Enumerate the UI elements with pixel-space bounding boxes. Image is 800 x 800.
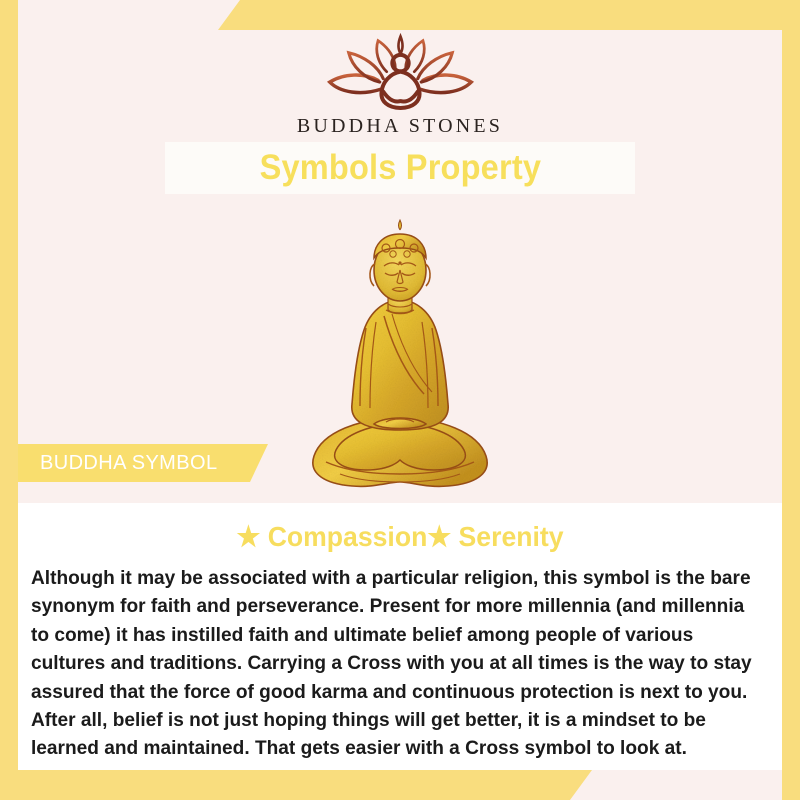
brand-name: BUDDHA STONES xyxy=(297,115,503,138)
attributes-subheading: ★ Compassion★ Serenity xyxy=(37,520,763,553)
description-panel: ★ Compassion★ Serenity Although it may b… xyxy=(18,503,782,770)
frame-bottom-band xyxy=(0,770,592,800)
poster-canvas: BUDDHA STONES Symbols Property xyxy=(0,0,800,800)
title-banner: Symbols Property xyxy=(165,142,635,194)
frame-right-band xyxy=(782,0,800,800)
buddha-symbol-ribbon: BUDDHA SYMBOL xyxy=(18,444,268,482)
poster-inner-area: BUDDHA STONES Symbols Property xyxy=(18,30,782,770)
page-title: Symbols Property xyxy=(259,148,541,188)
lotus-meditation-icon xyxy=(313,32,488,114)
golden-buddha-statue-image xyxy=(300,218,500,503)
frame-top-band xyxy=(218,0,800,30)
brand-logo: BUDDHA STONES xyxy=(18,30,782,142)
description-text: Although it may be associated with a par… xyxy=(31,564,758,763)
frame-left-band xyxy=(0,0,18,800)
ribbon-label: BUDDHA SYMBOL xyxy=(18,452,217,475)
